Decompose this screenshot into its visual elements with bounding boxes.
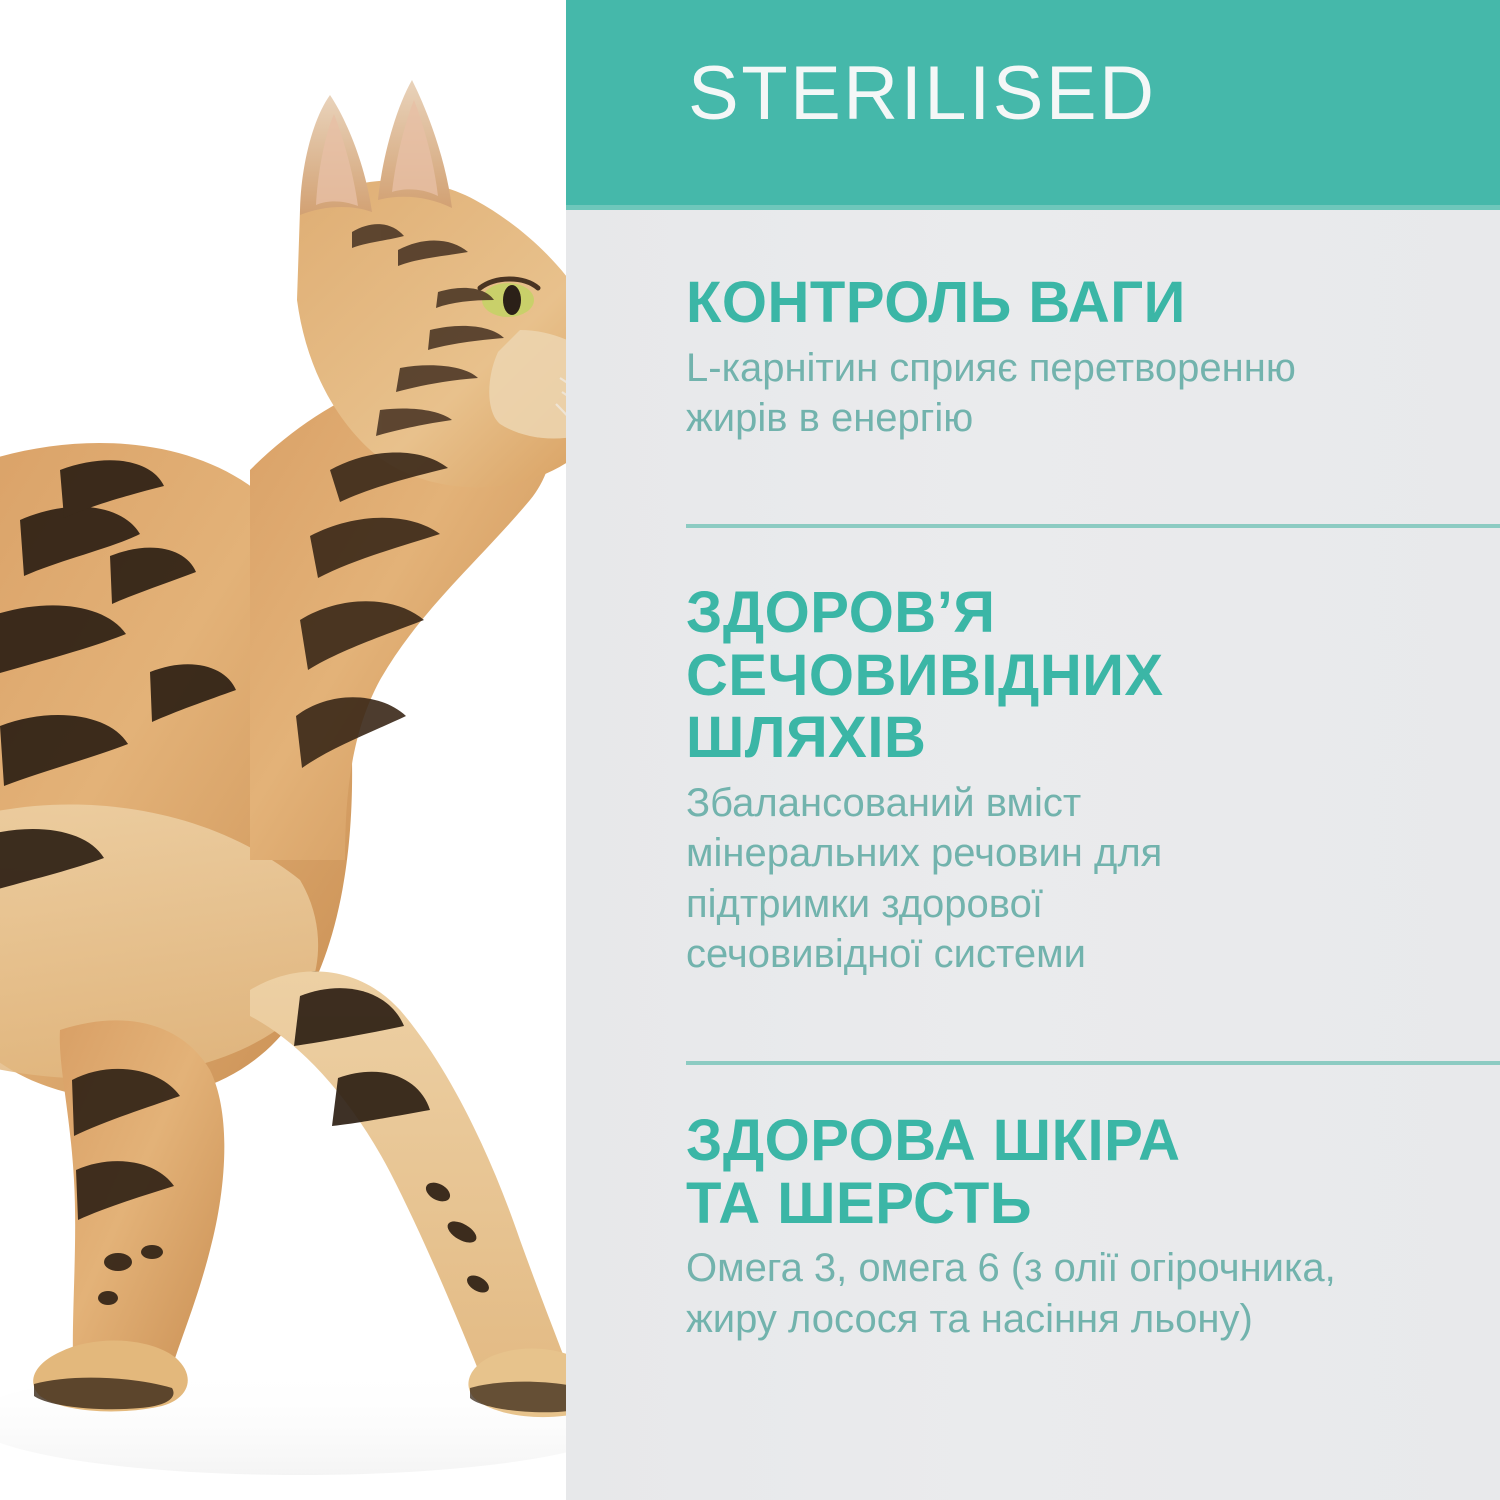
benefit-heading: ЗДОРОВ’Я СЕЧОВИВІДНИХ ШЛЯХІВ [686,582,1486,770]
product-banner: STERILISED [566,0,1500,210]
benefit-heading: КОНТРОЛЬ ВАГИ [686,272,1486,335]
benefit-body: Збалансований вміст мінеральних речовин … [686,778,1486,980]
benefit-divider-2 [686,1061,1500,1065]
info-panel: STERILISED КОНТРОЛЬ ВАГИ L-карнітин спри… [566,0,1500,1500]
cat-photo-area [0,0,566,1500]
benefit-block-urinary-health: ЗДОРОВ’Я СЕЧОВИВІДНИХ ШЛЯХІВ Збалансован… [686,582,1486,979]
benefit-body: L-карнітин сприяє перетворенню жирів в е… [686,343,1486,444]
benefit-body: Омега 3, омега 6 (з олії огірочника, жир… [686,1243,1486,1344]
product-feature-card: STERILISED КОНТРОЛЬ ВАГИ L-карнітин спри… [0,0,1500,1500]
banner-title: STERILISED [688,56,1156,132]
banner-bottom-sheen [566,205,1500,210]
benefit-block-skin-coat: ЗДОРОВА ШКІРА ТА ШЕРСТЬ Омега 3, омега 6… [686,1110,1486,1344]
cat-image [0,0,566,1500]
benefit-divider-1 [686,524,1500,528]
benefit-block-weight-control: КОНТРОЛЬ ВАГИ L-карнітин сприяє перетвор… [686,272,1486,443]
benefit-heading: ЗДОРОВА ШКІРА ТА ШЕРСТЬ [686,1110,1486,1235]
